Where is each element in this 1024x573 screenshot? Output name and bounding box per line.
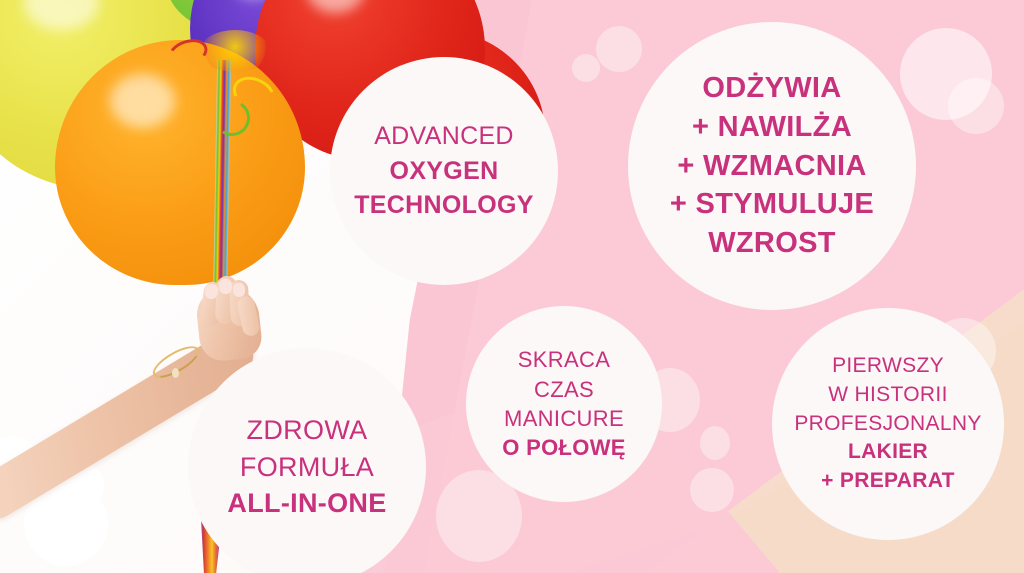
bubble-healthy-formula[interactable]: ZDROWA FORMUŁA ALL-IN-ONE (188, 348, 426, 573)
bubble-first-in-history[interactable]: PIERWSZY W HISTORII PROFESJONALNY LAKIER… (772, 308, 1004, 540)
bubble-advanced-oxygen-technology[interactable]: ADVANCED OXYGEN TECHNOLOGY (330, 57, 558, 285)
promo-banner: ADVANCED OXYGEN TECHNOLOGY ODŻYWIA + NAW… (0, 0, 1024, 573)
bubble-line: + NAWILŻA (670, 108, 874, 147)
bubble-text-block: ODŻYWIA + NAWILŻA + WZMACNIA + STYMULUJE… (662, 69, 882, 263)
bubble-benefits[interactable]: ODŻYWIA + NAWILŻA + WZMACNIA + STYMULUJE… (628, 22, 916, 310)
bubble-line: OXYGEN (354, 154, 534, 189)
bubble-line: ZDROWA (227, 412, 386, 449)
bubble-line: ADVANCED (354, 119, 534, 154)
bubble-line: W HISTORII (794, 381, 981, 410)
bubble-text-block: ZDROWA FORMUŁA ALL-IN-ONE (219, 412, 394, 522)
bubble-line: WZROST (670, 224, 874, 263)
bubble-line: O POŁOWĘ (502, 433, 626, 462)
bubble-line: PIERWSZY (794, 352, 981, 381)
bubble-text-block: ADVANCED OXYGEN TECHNOLOGY (346, 119, 542, 223)
bubble-manicure-time[interactable]: SKRACA CZAS MANICURE O POŁOWĘ (466, 306, 662, 502)
bubble-line: PROFESJONALNY (794, 410, 981, 439)
bubble-line: ALL-IN-ONE (227, 485, 386, 522)
bubble-line: + STYMULUJE (670, 185, 874, 224)
bubble-text-block: PIERWSZY W HISTORII PROFESJONALNY LAKIER… (786, 352, 989, 497)
fingernail (233, 283, 246, 298)
bubble-line: CZAS (502, 375, 626, 404)
bubble-line: LAKIER (794, 438, 981, 467)
bubble-text-block: SKRACA CZAS MANICURE O POŁOWĘ (494, 345, 634, 463)
balloon-knot-cluster (200, 30, 270, 72)
bubble-line: MANICURE (502, 404, 626, 433)
balloon-orange (55, 40, 305, 285)
bubble-line: FORMUŁA (227, 449, 386, 486)
bubble-line: + PREPARAT (794, 467, 981, 496)
bracelet-charm (172, 368, 179, 378)
bubble-line: TECHNOLOGY (354, 188, 534, 223)
bubble-line: ODŻYWIA (670, 69, 874, 108)
bubble-line: SKRACA (502, 345, 626, 374)
fingernail (219, 279, 232, 294)
bubble-line: + WZMACNIA (670, 147, 874, 186)
